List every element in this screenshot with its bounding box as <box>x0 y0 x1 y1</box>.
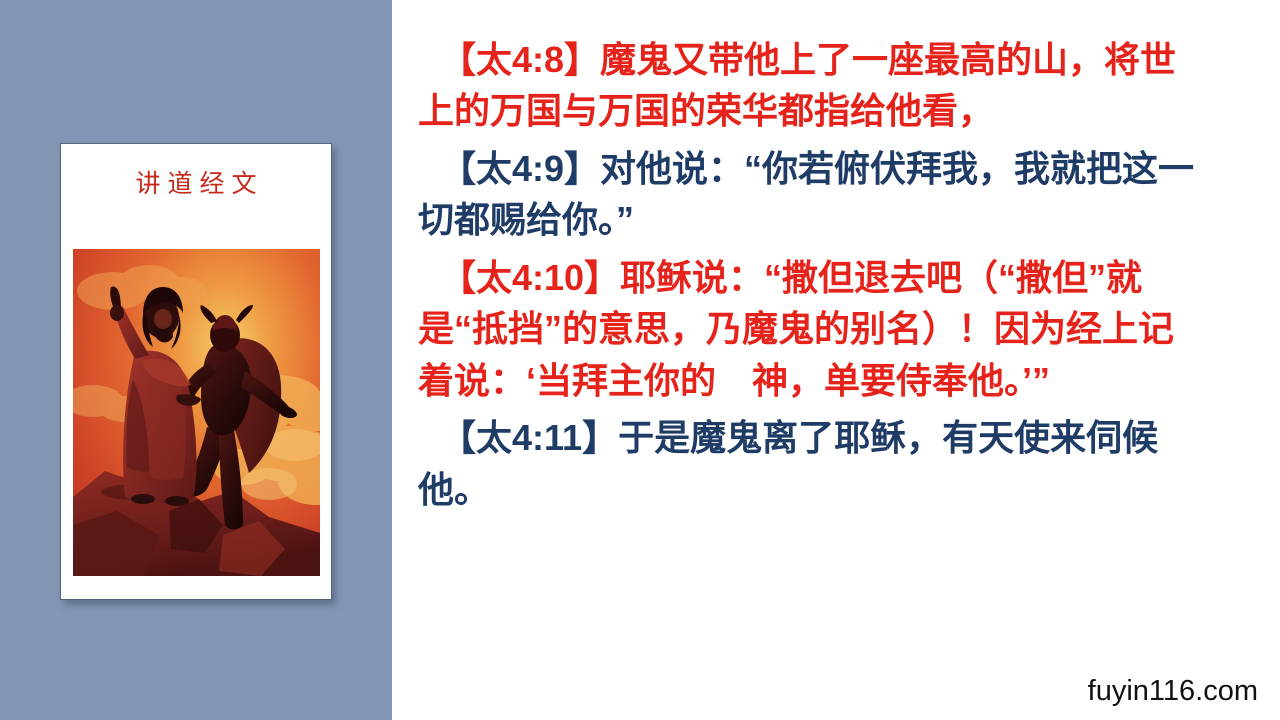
scripture-text-column: 【太4:8】魔鬼又带他上了一座最高的山，将世上的万国与万国的荣华都指给他看， 【… <box>418 34 1208 521</box>
jesus-and-devil-on-mountain-illustration <box>73 249 320 576</box>
verse-mt-4-9: 【太4:9】对他说：“你若俯伏拜我，我就把这一切都赐给你。” <box>418 143 1208 246</box>
slide-root: 讲道经文 <box>0 0 1280 720</box>
card-title: 讲道经文 <box>61 172 331 197</box>
illustration-svg <box>73 249 320 576</box>
verse-mt-4-10: 【太4:10】耶稣说：“撒但退去吧（“撒但”就是“抵挡”的意思，乃魔鬼的别名）！… <box>418 252 1208 406</box>
verse-mt-4-8: 【太4:8】魔鬼又带他上了一座最高的山，将世上的万国与万国的荣华都指给他看， <box>418 34 1208 137</box>
verse-mt-4-11: 【太4:11】于是魔鬼离了耶稣，有天使来伺候他。 <box>418 412 1208 515</box>
scripture-card: 讲道经文 <box>60 143 332 600</box>
site-watermark: fuyin116.com <box>1088 675 1258 708</box>
